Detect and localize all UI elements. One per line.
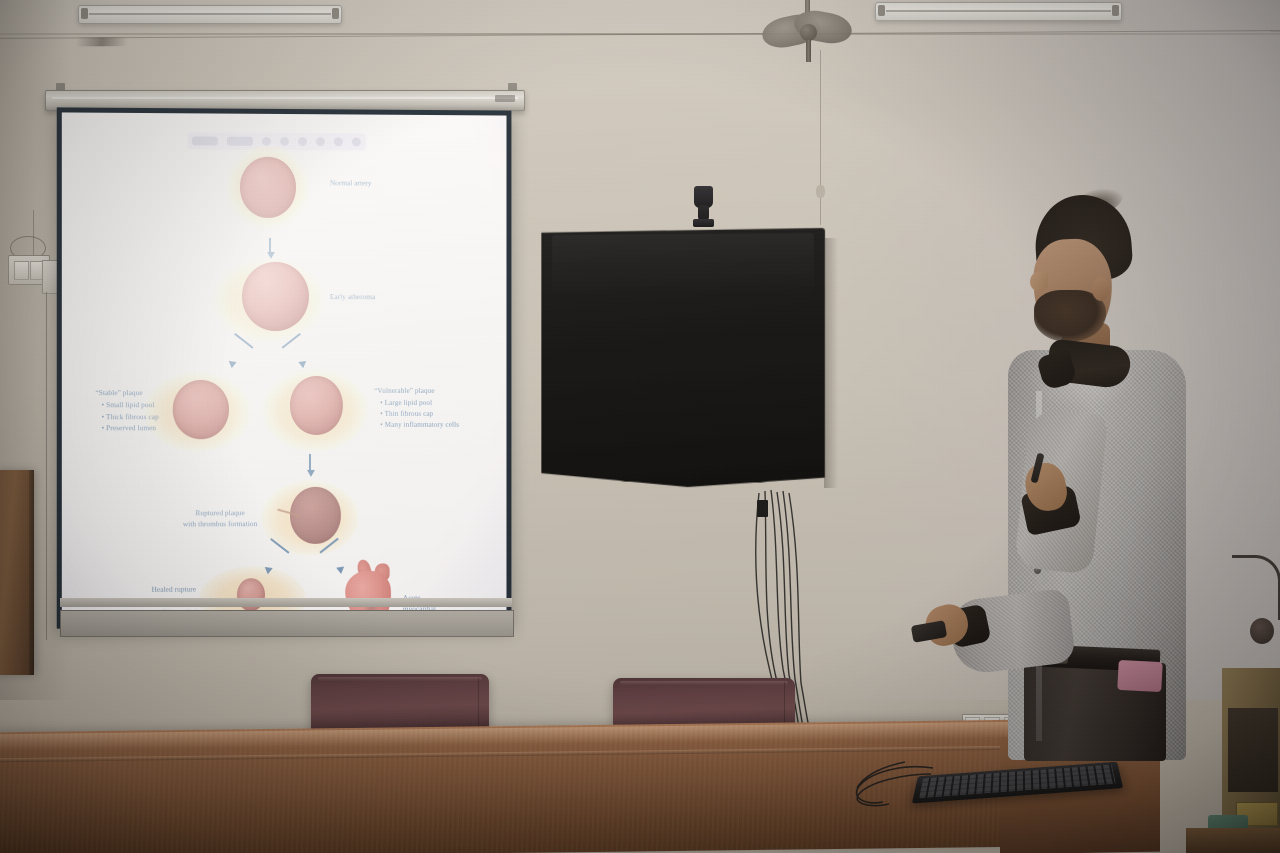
ceiling-fan [762,10,854,54]
ruptured-line-2: with thrombus formation [183,519,257,530]
arrow-down-icon [305,454,314,476]
presenter [930,195,1230,755]
switch-toggle[interactable] [14,261,29,280]
podium-arm [1232,555,1280,620]
label-stable-plaque: “Stable” plaque Small lipid pool Thick f… [96,388,159,434]
vulnerable-plaque-title: “Vulnerable” plaque [374,387,434,395]
fit-page-icon[interactable] [352,137,361,146]
stable-plaque-bullets: Small lipid pool Thick fibrous cap Prese… [96,401,159,435]
arrow-branch-right-icon [314,551,345,577]
screen-weight-bar [60,598,512,607]
projector-screen: Normal artery Early atheroma “Stable” pl… [57,107,512,628]
stable-plaque-cross-section [145,371,252,453]
wall-mounted-television[interactable] [541,228,825,488]
tv-wall-shadow [824,238,838,488]
label-normal-artery: Normal artery [330,178,372,189]
fluorescent-tube-light-right [875,2,1122,21]
right-shelf [1186,828,1280,853]
info-icon[interactable] [280,137,289,146]
arrow-down-icon [265,238,274,258]
arrow-branch-left-icon [228,345,259,370]
bullet: Small lipid pool [102,401,159,412]
rotate-left-icon[interactable] [316,137,325,146]
screen-bottom-roller [60,610,514,637]
wooden-cabinet-left [0,470,34,675]
fan-stem [806,40,811,62]
wall-cable-right [820,50,821,225]
junction-box [42,260,58,294]
screen-brand-mark [495,95,515,102]
ruptured-plaque-cross-section [261,480,359,557]
search-icon[interactable] [298,137,307,146]
wall-wire-upper [33,210,34,256]
chair-back-left[interactable] [311,674,489,734]
arrow-branch-left-icon [263,551,294,577]
label-early-atheroma: Early atheroma [330,292,375,303]
bullet: Preserved lumen [102,423,159,434]
ruptured-line-1: Ruptured plaque [183,508,257,519]
vulnerable-plaque-bullets: Large lipid pool Thin fibrous cap Many i… [374,398,459,431]
pocket-item [1117,660,1163,692]
conference-camera [690,186,717,232]
wall-wire-lower [46,292,47,640]
podium-knob[interactable] [1250,618,1274,644]
fan-hub [800,24,817,41]
page-nav-icon[interactable] [192,136,218,145]
projected-slide: Normal artery Early atheroma “Stable” pl… [62,112,507,623]
presenter-ear [1092,277,1110,301]
bullet: Large lipid pool [380,398,459,409]
bullet: Thin fibrous cap [380,409,459,420]
arrow-branch-right-icon [277,345,308,370]
presenter-nose [1030,271,1048,291]
podium-panel [1228,708,1278,792]
lecture-room-photo: Normal artery Early atheroma “Stable” pl… [0,0,1280,853]
normal-artery-cross-section [225,146,310,233]
stable-plaque-title: “Stable” plaque [96,389,143,397]
wall-hook [816,185,825,198]
bullet: Many inflammatory cells [380,420,459,431]
label-vulnerable-plaque: “Vulnerable” plaque Large lipid pool Thi… [374,386,459,432]
early-atheroma-cross-section [210,253,326,345]
vulnerable-plaque-cross-section [261,368,368,452]
fluorescent-tube-light-left [78,5,342,24]
bullet: Thick fibrous cap [102,412,159,423]
bookmark-icon[interactable] [262,137,271,146]
rotate-right-icon[interactable] [334,137,343,146]
label-ruptured-plaque: Ruptured plaque with thrombus formation [183,508,257,531]
healed-rupture-title: Healed rupture [152,585,197,593]
zoom-icon[interactable] [227,136,253,145]
